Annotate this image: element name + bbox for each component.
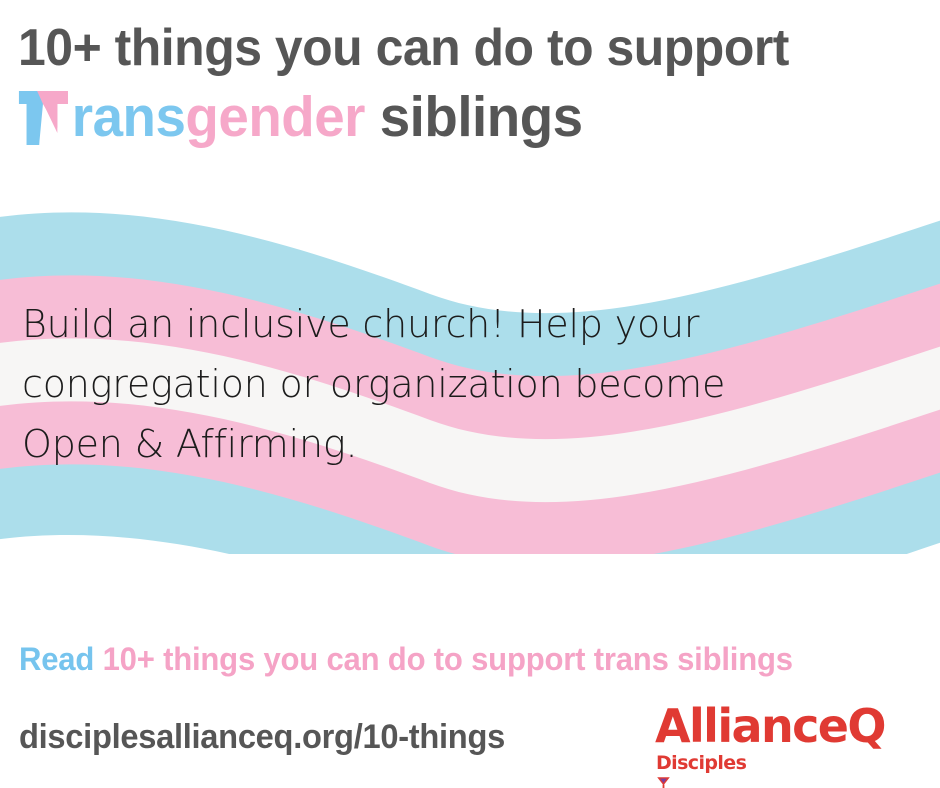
allianceq-tagline: Disciples LGBTQ+ Alliance [656,754,827,788]
allianceq-logo[interactable]: AllianceQ Disciples LGBTQ+ Alliance [655,703,925,783]
headline-siblings-gray: siblings [365,85,583,149]
poster-canvas: 10+ things you can do to support ransgen… [0,0,940,788]
headline-trans-blue: rans [72,85,186,149]
cta-read-label: Read [19,641,94,677]
transgender-t-mark-icon [18,88,74,145]
cta-line[interactable]: Read 10+ things you can do to support tr… [19,641,793,678]
headline-gender-pink: gender [185,85,365,149]
chalice-icon [656,776,827,788]
body-copy-line-3: Open & Affirming. [22,414,782,474]
page-title: 10+ things you can do to support ransgen… [18,22,928,146]
headline-line-1: 10+ things you can do to support [18,22,892,74]
headline-line-2: ransgender siblings [18,88,892,146]
body-copy: Build an inclusive church! Help your con… [22,294,782,474]
body-copy-line-2: congregation or organization become [22,354,782,414]
tagline-prefix: Disciples [656,752,746,774]
cta-link-text[interactable]: 10+ things you can do to support trans s… [103,641,793,677]
allianceq-wordmark: AllianceQ [655,703,925,749]
website-url[interactable]: disciplesallianceq.org/10-things [19,718,505,757]
body-copy-line-1: Build an inclusive church! Help your [22,294,782,354]
